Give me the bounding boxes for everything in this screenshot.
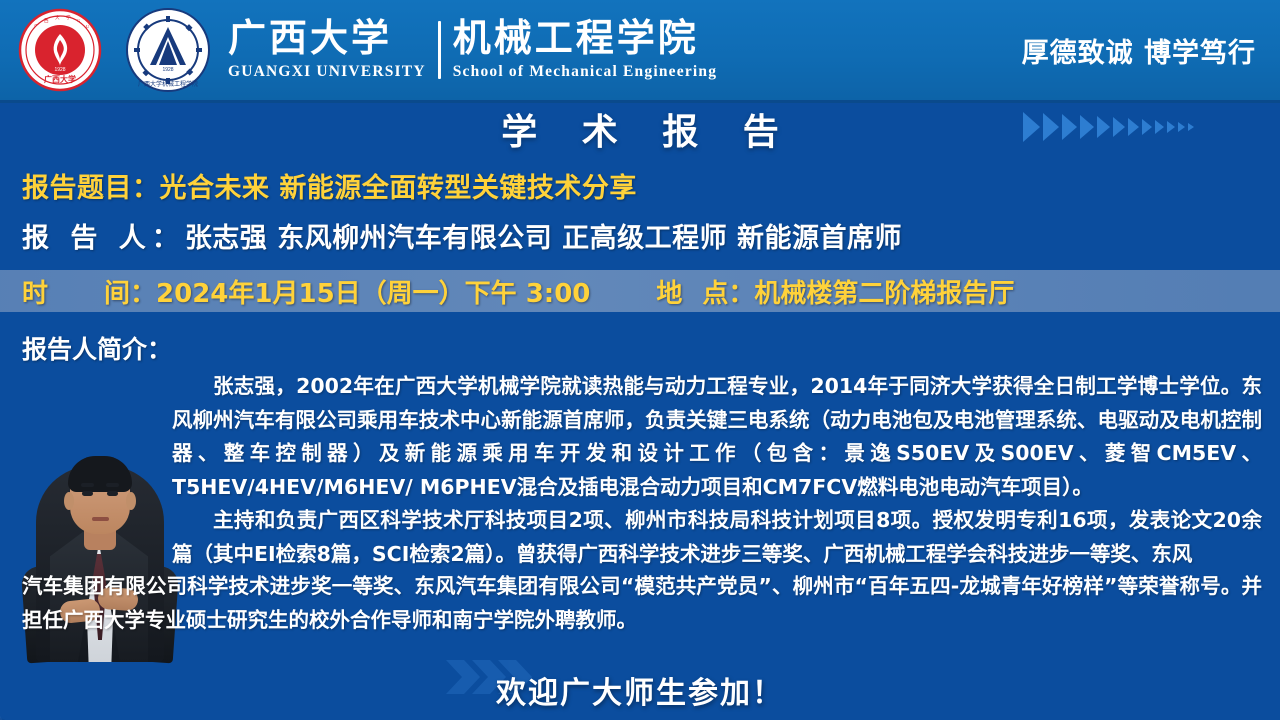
- chevron-right-icon: [1080, 115, 1094, 139]
- chevron-right-icon: [1178, 122, 1185, 132]
- portrait-ear-left: [64, 492, 74, 510]
- wordmark-divider: [438, 21, 441, 79]
- university-name-en: GUANGXI UNIVERSITY: [228, 63, 426, 81]
- chevron-right-icon: [1043, 113, 1059, 141]
- time-value: 2024年1月15日（周一）下午 3:00: [156, 279, 590, 309]
- academic-seminar-poster: 广西大学 1928 广西大 学GU: [0, 0, 1280, 720]
- bio-paragraph-2: 主持和负责广西区科学技术厅科技项目2项、柳州市科技局科技计划项目8项。授权发明专…: [172, 504, 1262, 571]
- portrait-eye-right: [107, 491, 118, 496]
- svg-text:1928: 1928: [162, 67, 173, 73]
- portrait-brow-right: [106, 483, 119, 487]
- report-title-value: 光合未来 新能源全面转型关键技术分享: [160, 173, 637, 204]
- svg-text:大: 大: [55, 14, 60, 21]
- portrait-eye-left: [82, 491, 93, 496]
- place-label: 地: [656, 279, 682, 309]
- chevron-right-icon: [1128, 118, 1139, 136]
- place-block: 地点：机械楼第二阶梯报告厅: [656, 273, 1014, 310]
- bio-body: 张志强，2002年在广西大学机械学院就读热能与动力工程专业，2014年于同济大学…: [172, 370, 1262, 571]
- school-of-mechanical-engineering-seal-icon: 1928 广西大学机械工程学院: [122, 7, 214, 93]
- guangxi-university-seal-icon: 广西大学 1928 广西大 学GU: [14, 8, 106, 92]
- bio-paragraph-3: 汽车集团有限公司科学技术进步奖一等奖、东风汽车集团有限公司“模范共产党员”、柳州…: [22, 570, 1262, 637]
- bio-heading: 报告人简介：: [22, 330, 172, 366]
- speaker-line: 报 告 人：张志强 东风柳州汽车有限公司 正高级工程师 新能源首席师: [22, 216, 902, 255]
- portrait-brow-left: [81, 483, 94, 487]
- wordmark-university: 广西大学 GUANGXI UNIVERSITY: [228, 20, 426, 81]
- svg-text:广: 广: [34, 23, 39, 30]
- header-bar: 广西大学 1928 广西大 学GU: [0, 0, 1280, 103]
- time-and-place-bar: 时间：2024年1月15日（周一）下午 3:00 地点：机械楼第二阶梯报告厅: [0, 270, 1280, 312]
- speaker-value: 张志强 东风柳州汽车有限公司 正高级工程师 新能源首席师: [185, 223, 902, 254]
- chevron-right-icon: [1188, 123, 1194, 131]
- svg-text:广西大学: 广西大学: [44, 74, 76, 84]
- chevron-right-icon: [1062, 114, 1077, 140]
- school-name-cn: 机械工程学院: [453, 20, 717, 58]
- university-motto: 厚德致诚 博学笃行: [1022, 31, 1256, 70]
- bio-paragraph-1: 张志强，2002年在广西大学机械学院就读热能与动力工程专业，2014年于同济大学…: [172, 370, 1262, 504]
- school-name-en: School of Mechanical Engineering: [453, 63, 717, 81]
- svg-text:学: 学: [66, 14, 71, 20]
- report-title-line: 报告题目：光合未来 新能源全面转型关键技术分享: [22, 166, 637, 205]
- wordmark: 广西大学 GUANGXI UNIVERSITY 机械工程学院 School of…: [228, 20, 717, 81]
- chevron-right-icon: [1113, 117, 1125, 137]
- chevron-right-icon: [1155, 120, 1164, 134]
- place-value: 机械楼第二阶梯报告厅: [754, 279, 1014, 309]
- time-block: 时间：2024年1月15日（周一）下午 3:00: [22, 273, 590, 310]
- chevron-right-icon: [1097, 116, 1110, 138]
- wordmark-school: 机械工程学院 School of Mechanical Engineering: [453, 20, 717, 81]
- portrait-ear-right: [126, 492, 136, 510]
- chevron-right-icon: [1142, 119, 1152, 135]
- time-label-2: 间：: [104, 279, 156, 309]
- speaker-label: 报 告 人：: [22, 223, 185, 254]
- place-label-2: 点：: [702, 279, 754, 309]
- time-label: 时: [22, 279, 48, 309]
- portrait-hair: [68, 456, 132, 492]
- svg-text:广西大学机械工程学院: 广西大学机械工程学院: [138, 80, 198, 88]
- chevron-right-icon: [1167, 121, 1175, 133]
- chevron-decoration: [1023, 112, 1194, 142]
- university-name-cn: 广西大学: [228, 20, 426, 58]
- title-band: 学 术 报 告: [0, 103, 1280, 155]
- portrait-mouth: [92, 517, 109, 521]
- chevron-right-icon: [1023, 112, 1040, 142]
- report-title-label: 报告题目：: [22, 173, 160, 204]
- svg-text:1928: 1928: [54, 67, 65, 73]
- welcome-message: 欢迎广大师生参加！: [0, 668, 1280, 712]
